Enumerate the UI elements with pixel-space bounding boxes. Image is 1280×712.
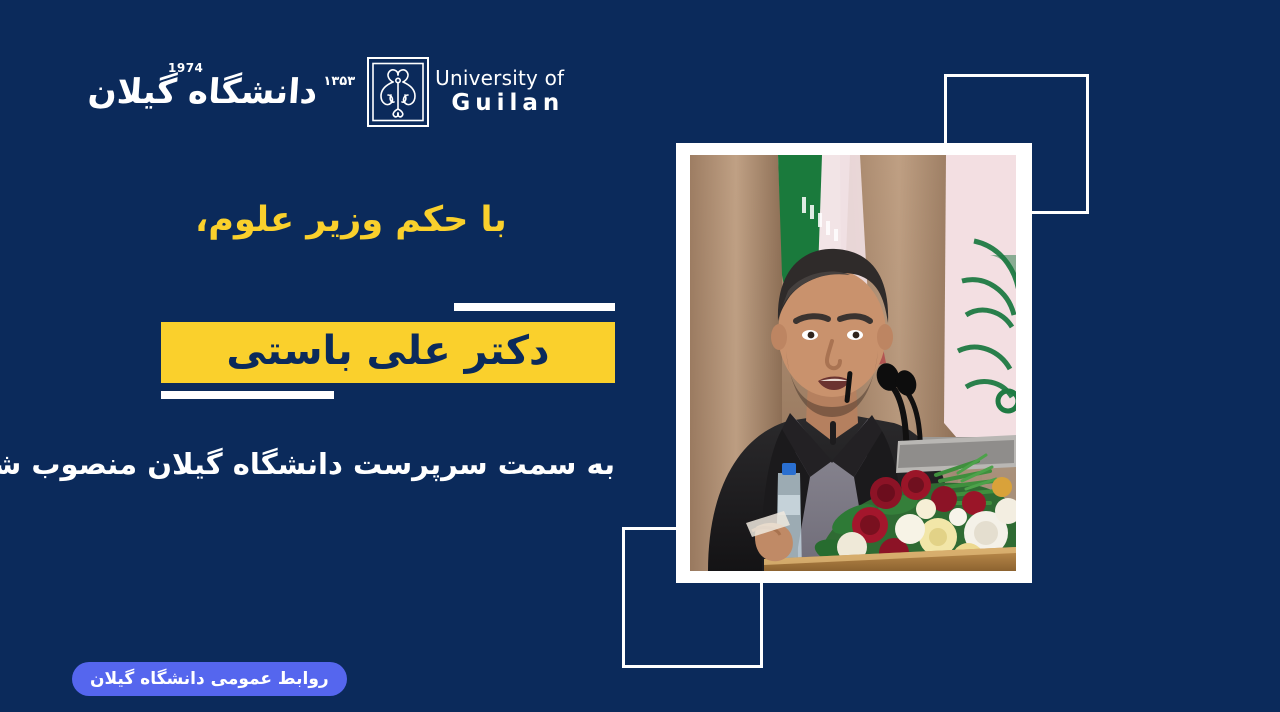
guilan-emblem-icon bbox=[367, 57, 429, 127]
logo-year-farsi: ۱۳۵۳ bbox=[323, 74, 355, 89]
logo-name-english-line2: Guilan bbox=[451, 90, 564, 116]
photo-frame bbox=[676, 143, 1032, 583]
decorative-dash-top bbox=[454, 303, 615, 311]
logo-year-english: 1974 bbox=[168, 62, 203, 76]
university-logo: دانشگاه گیلان ۱۳۵۳ U bbox=[88, 46, 408, 138]
headline-kicker: با حکم وزیر علوم، bbox=[195, 200, 615, 240]
speaker-photo bbox=[690, 155, 1016, 571]
person-name: دکتر علی باستی bbox=[226, 331, 549, 375]
decorative-dash-bottom bbox=[161, 391, 334, 399]
announcement-poster: دانشگاه گیلان ۱۳۵۳ U bbox=[0, 0, 1280, 712]
logo-name-english: University of Guilan 1974 bbox=[435, 67, 564, 117]
headline-subline: به سمت سرپرست دانشگاه گیلان منصوب شد bbox=[95, 447, 615, 481]
logo-name-english-line1: University of bbox=[435, 66, 564, 90]
public-relations-badge[interactable]: روابط عمومی دانشگاه گیلان bbox=[72, 662, 347, 696]
name-highlight-banner: دکتر علی باستی bbox=[161, 322, 615, 383]
logo-name-farsi: دانشگاه گیلان bbox=[87, 75, 319, 109]
